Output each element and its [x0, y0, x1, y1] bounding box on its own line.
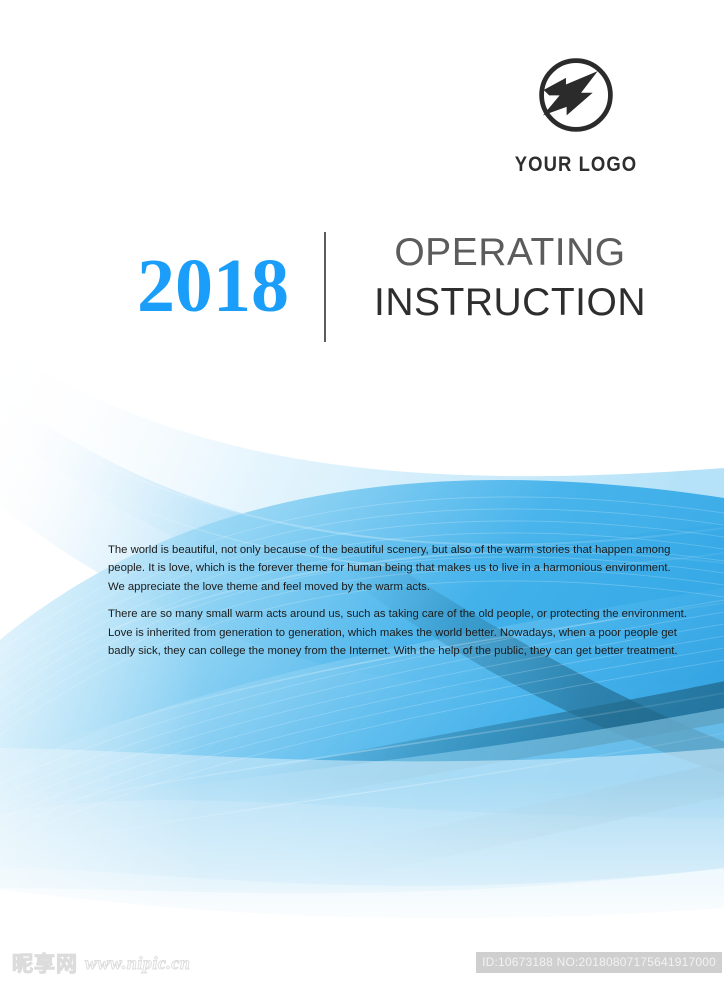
watermark-footer: 昵享网 www.nipic.cn ID:10673188 NO:20180807…: [0, 931, 724, 993]
title-line-2: INSTRUCTION: [350, 278, 670, 328]
watermark-id-badge: ID:10673188 NO:20180807175641917000: [476, 952, 722, 973]
logo-block: YOUR LOGO: [486, 52, 666, 177]
body-paragraph-2: There are so many small warm acts around…: [108, 605, 688, 660]
page-title: OPERATING INSTRUCTION: [350, 228, 670, 328]
poster-page: YOUR LOGO 2018 OPERATING INSTRUCTION: [0, 0, 724, 993]
title-divider: [324, 232, 326, 342]
title-line-1: OPERATING: [350, 228, 670, 278]
logo-wordmark: YOUR LOGO: [497, 153, 655, 177]
watermark-brand-cn: 昵享网: [12, 948, 78, 978]
watermark-brand: 昵享网 www.nipic.cn: [12, 948, 190, 978]
title-block: 2018 OPERATING INSTRUCTION: [0, 228, 724, 346]
body-paragraph-1: The world is beautiful, not only because…: [108, 541, 688, 596]
year-label: 2018: [118, 230, 308, 342]
watermark-url: www.nipic.cn: [85, 953, 190, 974]
body-copy: The world is beautiful, not only because…: [108, 541, 688, 660]
z-lightning-circle-logo-icon: [486, 52, 666, 143]
